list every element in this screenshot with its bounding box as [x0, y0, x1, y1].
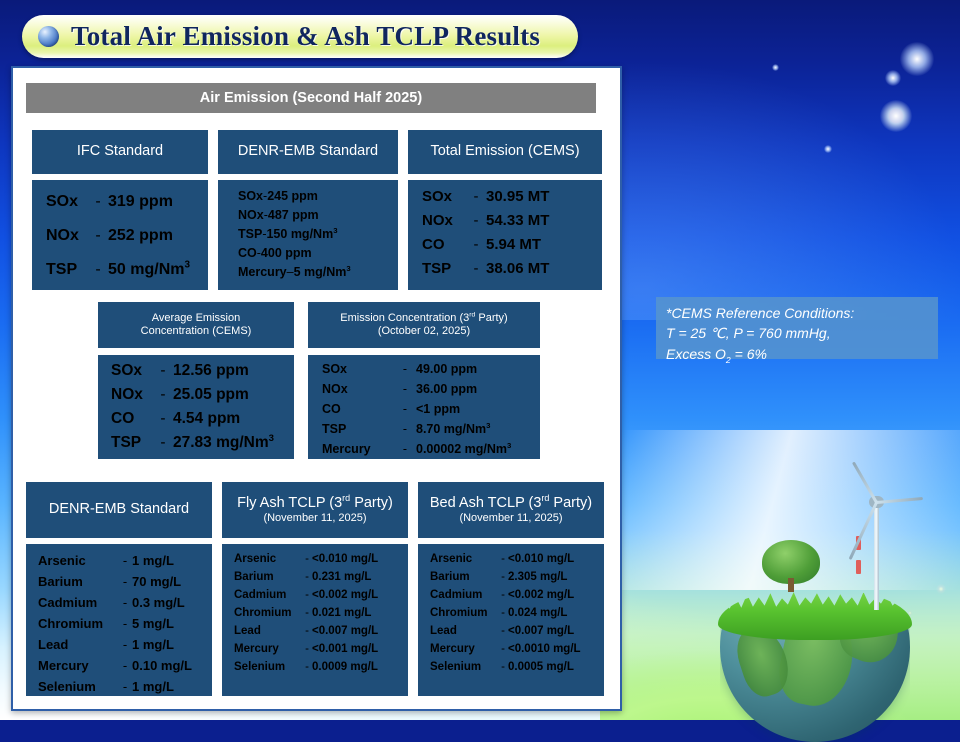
row-value: 50 mg/Nm3	[108, 261, 190, 279]
data-row: Cadmium-0.3 mg/L	[26, 595, 212, 610]
row-dash: -	[302, 661, 312, 673]
row-dash: -	[118, 658, 132, 673]
row-value: 49.00 ppm	[416, 362, 477, 376]
row-value: 5 mg/Nm3	[294, 265, 351, 279]
data-row: Mercury-<0.0010 mg/L	[418, 643, 604, 655]
rows-denr-emb-standard: SOx-245 ppmNOx-487 ppmTSP-150 mg/Nm3CO-4…	[218, 180, 398, 290]
row-dash: -	[466, 188, 486, 205]
data-row: TSP-27.83 mg/Nm3	[98, 434, 294, 452]
data-row: Mercury-0.00002 mg/Nm3	[308, 442, 540, 456]
row-value: 0.0005 mg/L	[508, 661, 574, 673]
row-dash: -	[498, 553, 508, 565]
data-row: Lead-1 mg/L	[26, 637, 212, 652]
row-value: <0.0010 mg/L	[508, 643, 581, 655]
row-value: 70 mg/L	[132, 574, 181, 589]
row-label: TSP	[322, 422, 394, 436]
row-dash: -	[88, 261, 108, 279]
data-row: Selenium-1 mg/L	[26, 679, 212, 694]
row-value: 25.05 ppm	[173, 386, 249, 404]
data-row: Chromium-5 mg/L	[26, 616, 212, 631]
data-row: SOx-245 ppm	[218, 189, 398, 203]
row-label: Lead	[234, 625, 302, 637]
row-dash: -	[302, 625, 312, 637]
row-dash: -	[118, 679, 132, 694]
row-label: NOx	[111, 386, 153, 404]
row-label: Selenium	[234, 661, 302, 673]
row-dash: -	[394, 422, 416, 436]
rows-average-emission-concentration: SOx-12.56 ppmNOx-25.05 ppmCO-4.54 ppmTSP…	[98, 355, 294, 459]
row-label: Barium	[430, 571, 498, 583]
data-row: Barium-2.305 mg/L	[418, 571, 604, 583]
row-label: SOx	[322, 362, 394, 376]
data-row: SOx-49.00 ppm	[308, 362, 540, 376]
data-row: Chromium-0.024 mg/L	[418, 607, 604, 619]
row-label: Mercury	[322, 442, 394, 456]
row-label: TSP	[46, 261, 88, 279]
rows-ifc-standard: SOx-319 ppmNOx-252 ppmTSP-50 mg/Nm3	[32, 180, 208, 290]
data-row: Barium-70 mg/L	[26, 574, 212, 589]
row-dash: -	[153, 410, 173, 428]
row-label: Arsenic	[234, 553, 302, 565]
row-dash: -	[498, 607, 508, 619]
data-row: Selenium-0.0009 mg/L	[222, 661, 408, 673]
section-header-air-emission: Air Emission (Second Half 2025)	[26, 83, 596, 113]
row-label: Cadmium	[234, 589, 302, 601]
row-value: 1 mg/L	[132, 637, 174, 652]
turbine-blade	[852, 461, 879, 504]
row-label: Barium	[234, 571, 302, 583]
star-glow-icon	[824, 145, 832, 153]
row-dash: -	[498, 643, 508, 655]
data-row: NOx-54.33 MT	[408, 212, 602, 229]
card-header-bed-ash-tclp: Bed Ash TCLP (3rd Party) (November 11, 2…	[418, 482, 604, 538]
page-title: Total Air Emission & Ash TCLP Results	[71, 21, 540, 52]
row-dash: -	[498, 571, 508, 583]
row-value: 0.024 mg/L	[508, 607, 567, 619]
row-value: <0.007 mg/L	[312, 625, 378, 637]
row-value: <0.010 mg/L	[312, 553, 378, 565]
data-row: Chromium-0.021 mg/L	[222, 607, 408, 619]
data-row: CO-400 ppm	[218, 246, 398, 260]
row-value: 0.021 mg/L	[312, 607, 371, 619]
data-row: TSP-150 mg/Nm3	[218, 227, 398, 241]
card-header-ifc-standard: IFC Standard	[32, 130, 208, 174]
star-glow-icon	[885, 70, 901, 86]
row-dash: -	[466, 212, 486, 229]
row-dash: -	[118, 637, 132, 652]
row-value: 1 mg/L	[132, 553, 174, 568]
data-row: TSP-8.70 mg/Nm3	[308, 422, 540, 436]
card-header-emission-concentration-third-party: Emission Concentration (3rd Party) (Octo…	[308, 302, 540, 348]
row-value: 30.95 MT	[486, 188, 549, 205]
data-row: Lead-<0.007 mg/L	[222, 625, 408, 637]
data-row: NOx-487 ppm	[218, 208, 398, 222]
row-label: Selenium	[38, 679, 118, 694]
rows-total-emission-cems: SOx-30.95 MTNOx-54.33 MTCO-5.94 MTTSP-38…	[408, 180, 602, 290]
row-value: <0.002 mg/L	[312, 589, 378, 601]
page-title-bar: Total Air Emission & Ash TCLP Results	[22, 15, 578, 58]
row-label: TSP	[422, 260, 466, 277]
row-value: 27.83 mg/Nm3	[173, 434, 274, 452]
row-label: Lead	[430, 625, 498, 637]
card-header-average-emission-concentration: Average Emission Concentration (CEMS)	[98, 302, 294, 348]
row-value: 400 ppm	[261, 246, 312, 260]
row-value: 2.305 mg/L	[508, 571, 567, 583]
row-label: TSP	[111, 434, 153, 452]
star-glow-icon	[772, 64, 779, 71]
row-value: <1 ppm	[416, 402, 460, 416]
row-label: Mercury	[430, 643, 498, 655]
row-value: 1 mg/L	[132, 679, 174, 694]
row-value: 252 ppm	[108, 227, 173, 245]
row-label: Arsenic	[430, 553, 498, 565]
row-label: Cadmium	[38, 595, 118, 610]
row-value: 54.33 MT	[486, 212, 549, 229]
row-value: 4.54 ppm	[173, 410, 240, 428]
rows-tclp-denr-emb-standard: Arsenic-1 mg/LBarium-70 mg/LCadmium-0.3 …	[26, 544, 212, 696]
row-dash: -	[466, 260, 486, 277]
row-dash: -	[118, 553, 132, 568]
row-dash: -	[302, 607, 312, 619]
star-glow-icon	[880, 100, 912, 132]
row-value: <0.002 mg/L	[508, 589, 574, 601]
row-label: SOx	[46, 193, 88, 211]
row-label: Mercury	[234, 643, 302, 655]
row-label: Arsenic	[38, 553, 118, 568]
row-value: <0.010 mg/L	[508, 553, 574, 565]
row-dash: –	[287, 265, 294, 279]
data-row: Cadmium-<0.002 mg/L	[222, 589, 408, 601]
row-dash: -	[302, 643, 312, 655]
card-header-fly-ash-tclp: Fly Ash TCLP (3rd Party) (November 11, 2…	[222, 482, 408, 538]
row-label: NOx	[46, 227, 88, 245]
row-label: SOx	[422, 188, 466, 205]
row-value: 12.56 ppm	[173, 362, 249, 380]
row-dash: -	[118, 616, 132, 631]
row-label: NOx	[238, 208, 264, 222]
row-label: CO	[422, 236, 466, 253]
data-row: NOx-25.05 ppm	[98, 386, 294, 404]
row-label: Selenium	[430, 661, 498, 673]
row-value: 319 ppm	[108, 193, 173, 211]
row-value: 0.3 mg/L	[132, 595, 185, 610]
row-label: CO	[322, 402, 394, 416]
card-header-denr-emb-standard: DENR-EMB Standard	[218, 130, 398, 174]
row-dash: -	[302, 571, 312, 583]
row-label: Chromium	[38, 616, 118, 631]
row-dash: -	[153, 362, 173, 380]
turbine-mast	[874, 502, 879, 610]
row-value: 487 ppm	[268, 208, 319, 222]
row-dash: -	[394, 402, 416, 416]
header-line-1: Emission Concentration (3rd Party)	[340, 312, 507, 325]
cems-reference-conditions-note: *CEMS Reference Conditions: T = 25 ℃, P …	[656, 297, 938, 359]
row-dash: -	[153, 386, 173, 404]
row-dash: -	[88, 227, 108, 245]
data-row: Arsenic-1 mg/L	[26, 553, 212, 568]
row-dash: -	[394, 382, 416, 396]
row-dash: -	[394, 442, 416, 456]
data-row: Arsenic-<0.010 mg/L	[222, 553, 408, 565]
row-value: 0.0009 mg/L	[312, 661, 378, 673]
row-dash: -	[118, 595, 132, 610]
row-dash: -	[498, 661, 508, 673]
note-line-3: Excess O2 = 6%	[666, 344, 928, 364]
row-label: CO	[238, 246, 257, 260]
data-row: Mercury-<0.001 mg/L	[222, 643, 408, 655]
earth-hemisphere-icon	[690, 452, 940, 720]
note-line-1: *CEMS Reference Conditions:	[666, 303, 928, 323]
row-label: Mercury	[238, 265, 287, 279]
card-header-tclp-denr-emb-standard: DENR-EMB Standard	[26, 482, 212, 538]
card-header-total-emission-cems: Total Emission (CEMS)	[408, 130, 602, 174]
row-dash: -	[302, 589, 312, 601]
row-label: Chromium	[234, 607, 302, 619]
data-row: Cadmium-<0.002 mg/L	[418, 589, 604, 601]
row-dash: -	[466, 236, 486, 253]
data-row: TSP-50 mg/Nm3	[32, 261, 208, 279]
data-row: CO-<1 ppm	[308, 402, 540, 416]
data-row: Lead-<0.007 mg/L	[418, 625, 604, 637]
row-dash: -	[498, 589, 508, 601]
header-line-1: Fly Ash TCLP (3rd Party)	[237, 495, 393, 512]
row-value: 8.70 mg/Nm3	[416, 422, 490, 436]
row-label: Lead	[38, 637, 118, 652]
row-dash: -	[498, 625, 508, 637]
row-label: CO	[111, 410, 153, 428]
data-row: CO-5.94 MT	[408, 236, 602, 253]
sphere-bullet-icon	[38, 26, 59, 47]
row-value: 0.10 mg/L	[132, 658, 192, 673]
tree-trunk	[788, 578, 794, 592]
row-dash: -	[394, 362, 416, 376]
row-dash: -	[118, 574, 132, 589]
row-label: NOx	[422, 212, 466, 229]
data-row: Mercury–5 mg/Nm3	[218, 265, 398, 279]
row-label: TSP	[238, 227, 262, 241]
row-value: 150 mg/Nm3	[266, 227, 337, 241]
data-row: Arsenic-<0.010 mg/L	[418, 553, 604, 565]
data-row: Selenium-0.0005 mg/L	[418, 661, 604, 673]
row-value: <0.007 mg/L	[508, 625, 574, 637]
data-row: NOx-252 ppm	[32, 227, 208, 245]
row-value: 5.94 MT	[486, 236, 541, 253]
note-line-2: T = 25 ℃, P = 760 mmHg,	[666, 323, 928, 343]
header-line-1: Bed Ash TCLP (3rd Party)	[430, 495, 592, 512]
row-label: Chromium	[430, 607, 498, 619]
data-row: NOx-36.00 ppm	[308, 382, 540, 396]
data-row: SOx-30.95 MT	[408, 188, 602, 205]
rows-fly-ash-tclp: Arsenic-<0.010 mg/LBarium-0.231 mg/LCadm…	[222, 544, 408, 696]
row-value: 36.00 ppm	[416, 382, 477, 396]
row-dash: -	[88, 193, 108, 211]
data-row: TSP-38.06 MT	[408, 260, 602, 277]
star-glow-icon	[900, 42, 934, 76]
rows-bed-ash-tclp: Arsenic-<0.010 mg/LBarium-2.305 mg/LCadm…	[418, 544, 604, 696]
tree-icon	[762, 540, 820, 598]
row-dash: -	[302, 553, 312, 565]
row-dash: -	[153, 434, 173, 452]
row-label: Cadmium	[430, 589, 498, 601]
row-label: SOx	[238, 189, 263, 203]
row-label: Mercury	[38, 658, 118, 673]
turbine-marker	[856, 560, 861, 574]
row-label: Barium	[38, 574, 118, 589]
data-row: CO-4.54 ppm	[98, 410, 294, 428]
wind-turbine-icon	[842, 460, 922, 610]
row-value: 245 ppm	[267, 189, 318, 203]
row-value: <0.001 mg/L	[312, 643, 378, 655]
row-value: 0.00002 mg/Nm3	[416, 442, 511, 456]
data-row: Mercury-0.10 mg/L	[26, 658, 212, 673]
data-row: SOx-12.56 ppm	[98, 362, 294, 380]
data-row: Barium-0.231 mg/L	[222, 571, 408, 583]
row-value: 0.231 mg/L	[312, 571, 371, 583]
row-value: 5 mg/L	[132, 616, 174, 631]
row-label: SOx	[111, 362, 153, 380]
rows-emission-concentration-third-party: SOx-49.00 ppmNOx-36.00 ppmCO-<1 ppmTSP-8…	[308, 355, 540, 459]
row-value: 38.06 MT	[486, 260, 549, 277]
data-row: SOx-319 ppm	[32, 193, 208, 211]
row-label: NOx	[322, 382, 394, 396]
